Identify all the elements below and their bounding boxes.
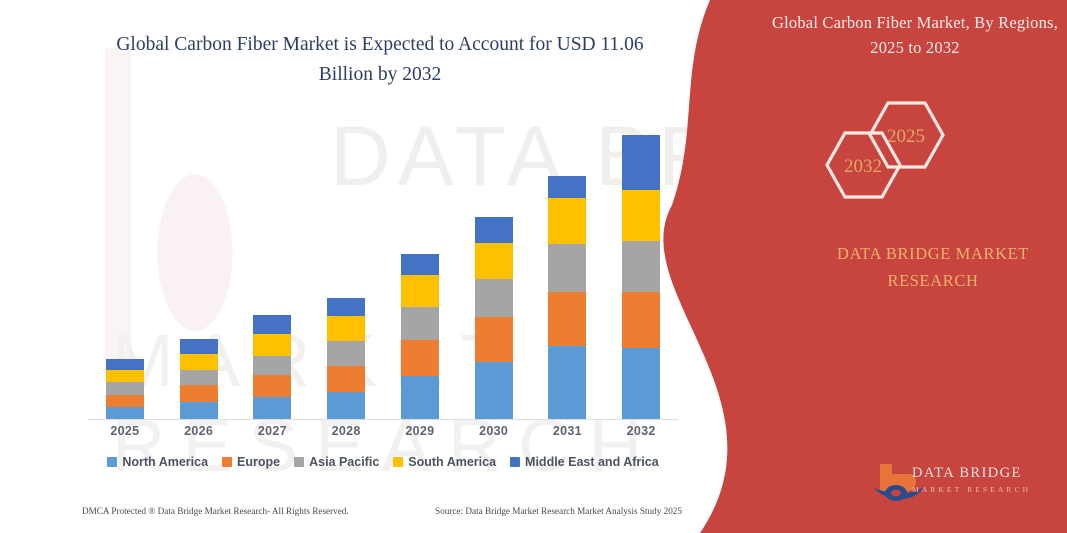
brand-name: DATA BRIDGE MARKET RESEARCH [788, 240, 1067, 294]
stacked-bar[interactable] [401, 254, 439, 419]
stacked-bar[interactable] [106, 359, 144, 419]
bar-slot [457, 114, 531, 419]
logo-subtitle: MARKET RESEARCH [912, 485, 1031, 494]
bar-segment[interactable] [475, 317, 513, 362]
bar-segment[interactable] [180, 402, 218, 419]
hexagon-group: 2032 2025 [815, 95, 995, 215]
bar-segment[interactable] [253, 397, 291, 419]
bar-segment[interactable] [106, 395, 144, 407]
bar-segment[interactable] [548, 176, 586, 198]
bar-segment[interactable] [253, 356, 291, 375]
bar-slot [88, 114, 162, 419]
x-axis-labels: 20252026202720282029203020312032 [88, 424, 678, 438]
stacked-bar-chart [88, 110, 678, 420]
legend-label: North America [122, 455, 208, 469]
stacked-bar[interactable] [475, 217, 513, 419]
chart-legend: North AmericaEuropeAsia PacificSouth Ame… [88, 455, 678, 469]
bar-segment[interactable] [401, 340, 439, 377]
legend-label: Middle East and Africa [525, 455, 659, 469]
legend-item[interactable]: South America [393, 455, 496, 469]
bar-segment[interactable] [180, 354, 218, 370]
brand-line-2: RESEARCH [788, 267, 1067, 294]
legend-item[interactable]: North America [107, 455, 208, 469]
legend-item[interactable]: Europe [222, 455, 280, 469]
bar-segment[interactable] [106, 407, 144, 419]
legend-swatch-icon [107, 457, 117, 467]
bar-segment[interactable] [106, 359, 144, 370]
logo-name: DATA BRIDGE [912, 465, 1031, 482]
stacked-bar[interactable] [327, 298, 365, 419]
bar-segment[interactable] [548, 292, 586, 346]
footer-copyright: DMCA Protected ® Data Bridge Market Rese… [82, 506, 349, 516]
stacked-bar[interactable] [180, 339, 218, 419]
infographic-canvas: DATA BRIDGE MARKET RESEARCH Global Carbo… [0, 0, 1067, 533]
bar-segment[interactable] [475, 243, 513, 279]
legend-item[interactable]: Asia Pacific [294, 455, 379, 469]
bar-slot [309, 114, 383, 419]
hexagon-2032-label: 2032 [844, 156, 882, 177]
legend-item[interactable]: Middle East and Africa [510, 455, 659, 469]
hexagon-2025-label: 2025 [887, 126, 925, 147]
bar-slot [383, 114, 457, 419]
legend-label: Europe [237, 455, 280, 469]
bar-segment[interactable] [327, 341, 365, 366]
chart-bars [88, 114, 678, 419]
bar-segment[interactable] [253, 334, 291, 356]
bar-segment[interactable] [475, 217, 513, 243]
x-axis-label: 2029 [383, 424, 457, 438]
x-axis-label: 2026 [162, 424, 236, 438]
x-axis-label: 2025 [88, 424, 162, 438]
bar-slot [162, 114, 236, 419]
bar-segment[interactable] [253, 375, 291, 396]
x-axis-line [88, 419, 678, 420]
legend-label: South America [408, 455, 496, 469]
legend-swatch-icon [510, 457, 520, 467]
company-logo: DATA BRIDGE MARKET RESEARCH [872, 462, 1052, 510]
bar-slot [236, 114, 310, 419]
bar-segment[interactable] [327, 392, 365, 419]
x-axis-label: 2028 [309, 424, 383, 438]
brand-line-1: DATA BRIDGE MARKET [788, 240, 1067, 267]
bar-segment[interactable] [401, 275, 439, 308]
logo-wordmark: DATA BRIDGE MARKET RESEARCH [912, 465, 1031, 494]
bar-segment[interactable] [180, 370, 218, 385]
legend-swatch-icon [393, 457, 403, 467]
bar-segment[interactable] [548, 346, 586, 419]
legend-label: Asia Pacific [309, 455, 379, 469]
bar-segment[interactable] [475, 279, 513, 318]
bar-segment[interactable] [401, 254, 439, 274]
bar-segment[interactable] [180, 385, 218, 401]
bar-slot [531, 114, 605, 419]
bar-segment[interactable] [475, 362, 513, 419]
bar-segment[interactable] [253, 315, 291, 333]
bar-segment[interactable] [401, 376, 439, 419]
x-axis-label: 2031 [531, 424, 605, 438]
stacked-bar[interactable] [548, 176, 586, 419]
legend-swatch-icon [294, 457, 304, 467]
bar-segment[interactable] [327, 316, 365, 340]
panel-title: Global Carbon Fiber Market, By Regions, … [770, 10, 1060, 60]
page-title: Global Carbon Fiber Market is Expected t… [110, 30, 650, 90]
bar-segment[interactable] [180, 339, 218, 354]
bar-segment[interactable] [327, 366, 365, 391]
bar-segment[interactable] [106, 382, 144, 394]
footer: DMCA Protected ® Data Bridge Market Rese… [82, 506, 682, 516]
bar-segment[interactable] [548, 244, 586, 292]
bar-segment[interactable] [401, 307, 439, 340]
bar-segment[interactable] [106, 370, 144, 382]
x-axis-label: 2027 [236, 424, 310, 438]
bar-segment[interactable] [327, 298, 365, 316]
legend-swatch-icon [222, 457, 232, 467]
bar-segment[interactable] [548, 198, 586, 244]
x-axis-label: 2030 [457, 424, 531, 438]
stacked-bar[interactable] [253, 315, 291, 419]
